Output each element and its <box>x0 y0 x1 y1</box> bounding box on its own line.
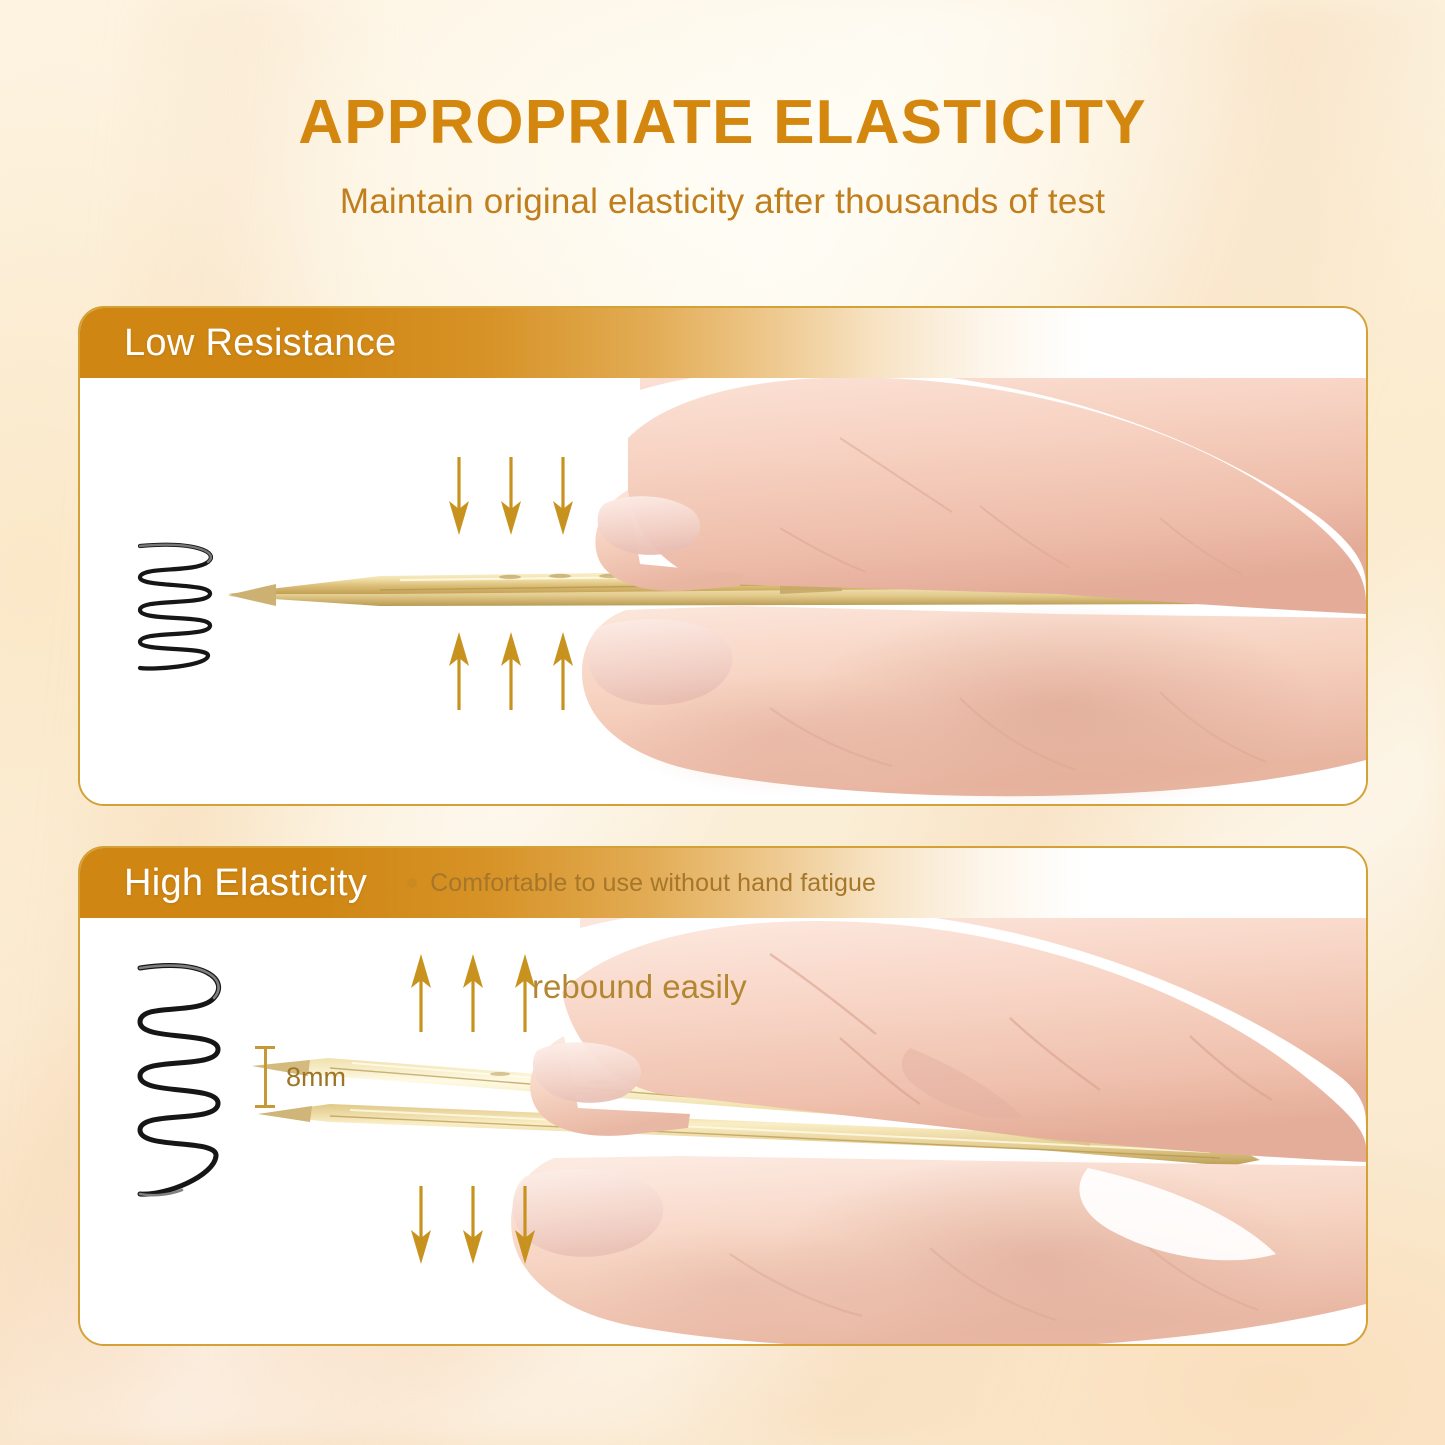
arrow-down-icon <box>500 457 522 535</box>
panel-banner-high-elasticity: High Elasticity Comfortable to use witho… <box>80 848 1366 918</box>
arrow-up-icon <box>448 632 470 710</box>
arrow-down-icon <box>552 457 574 535</box>
arrow-up-icon <box>514 954 536 1032</box>
arrow-group-up-high <box>410 954 536 1032</box>
panel-body-high-elasticity: 8mm rebound easily <box>80 918 1366 1344</box>
dimension-bar-icon <box>255 1046 275 1108</box>
photo-hand-closed-tweezers <box>80 378 1366 804</box>
dimension-label: 8mm <box>286 1062 346 1093</box>
page-title: APPROPRIATE ELASTICITY <box>0 92 1445 154</box>
panel-banner-low-resistance: Low Resistance <box>80 308 1366 378</box>
panel-low-resistance: Low Resistance <box>78 306 1368 806</box>
panel-body-low-resistance <box>80 378 1366 804</box>
arrow-down-icon <box>462 1186 484 1264</box>
dimension-8mm: 8mm <box>255 1046 346 1108</box>
arrow-up-icon <box>462 954 484 1032</box>
arrow-up-icon <box>410 954 432 1032</box>
annotation-rebound-easily: rebound easily <box>532 968 747 1006</box>
arrow-down-icon <box>514 1186 536 1264</box>
arrow-group-up-low <box>448 632 574 710</box>
banner-note-text: Comfortable to use without hand fatigue <box>430 869 876 898</box>
banner-title-low-resistance: Low Resistance <box>80 322 396 365</box>
compressed-spring-icon <box>124 540 224 675</box>
extended-spring-icon <box>122 958 238 1203</box>
header: APPROPRIATE ELASTICITY Maintain original… <box>0 0 1445 222</box>
arrow-down-icon <box>410 1186 432 1264</box>
bullet-dot-icon <box>407 878 417 888</box>
arrow-up-icon <box>500 632 522 710</box>
arrow-up-icon <box>552 632 574 710</box>
arrow-group-down-high <box>410 1186 536 1264</box>
panel-high-elasticity: High Elasticity Comfortable to use witho… <box>78 846 1368 1346</box>
dimension-stem <box>264 1046 267 1108</box>
arrow-down-icon <box>448 457 470 535</box>
banner-note-high-elasticity: Comfortable to use without hand fatigue <box>407 869 876 898</box>
page-subtitle: Maintain original elasticity after thous… <box>0 182 1445 222</box>
arrow-group-down-low <box>448 457 574 535</box>
banner-title-high-elasticity: High Elasticity <box>80 862 367 905</box>
